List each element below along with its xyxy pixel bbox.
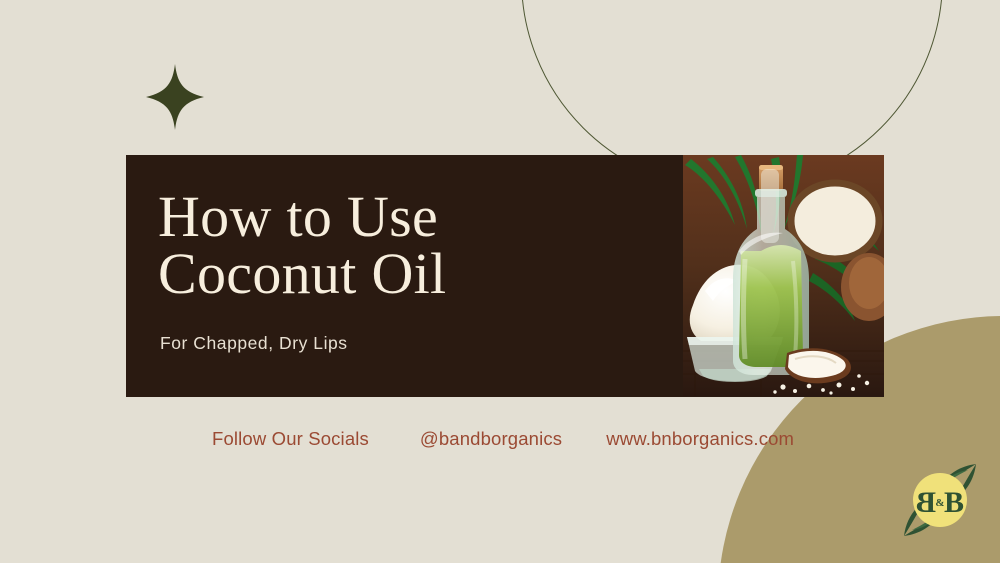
logo-right-letter: B: [944, 486, 964, 519]
poster-canvas: How to Use Coconut Oil For Chapped, Dry …: [0, 0, 1000, 563]
product-photo: [683, 155, 884, 396]
sparkle-icon: [146, 64, 204, 130]
brand-logo[interactable]: B & B: [898, 458, 982, 542]
logo-left-letter: B: [916, 486, 936, 519]
footer-handle[interactable]: @bandborganics: [420, 428, 562, 450]
footer-social-row: Follow Our Socials @bandborganics www.bn…: [212, 428, 794, 450]
footer-socials-label: Follow Our Socials: [212, 428, 369, 450]
footer-website[interactable]: www.bnborganics.com: [606, 428, 794, 450]
